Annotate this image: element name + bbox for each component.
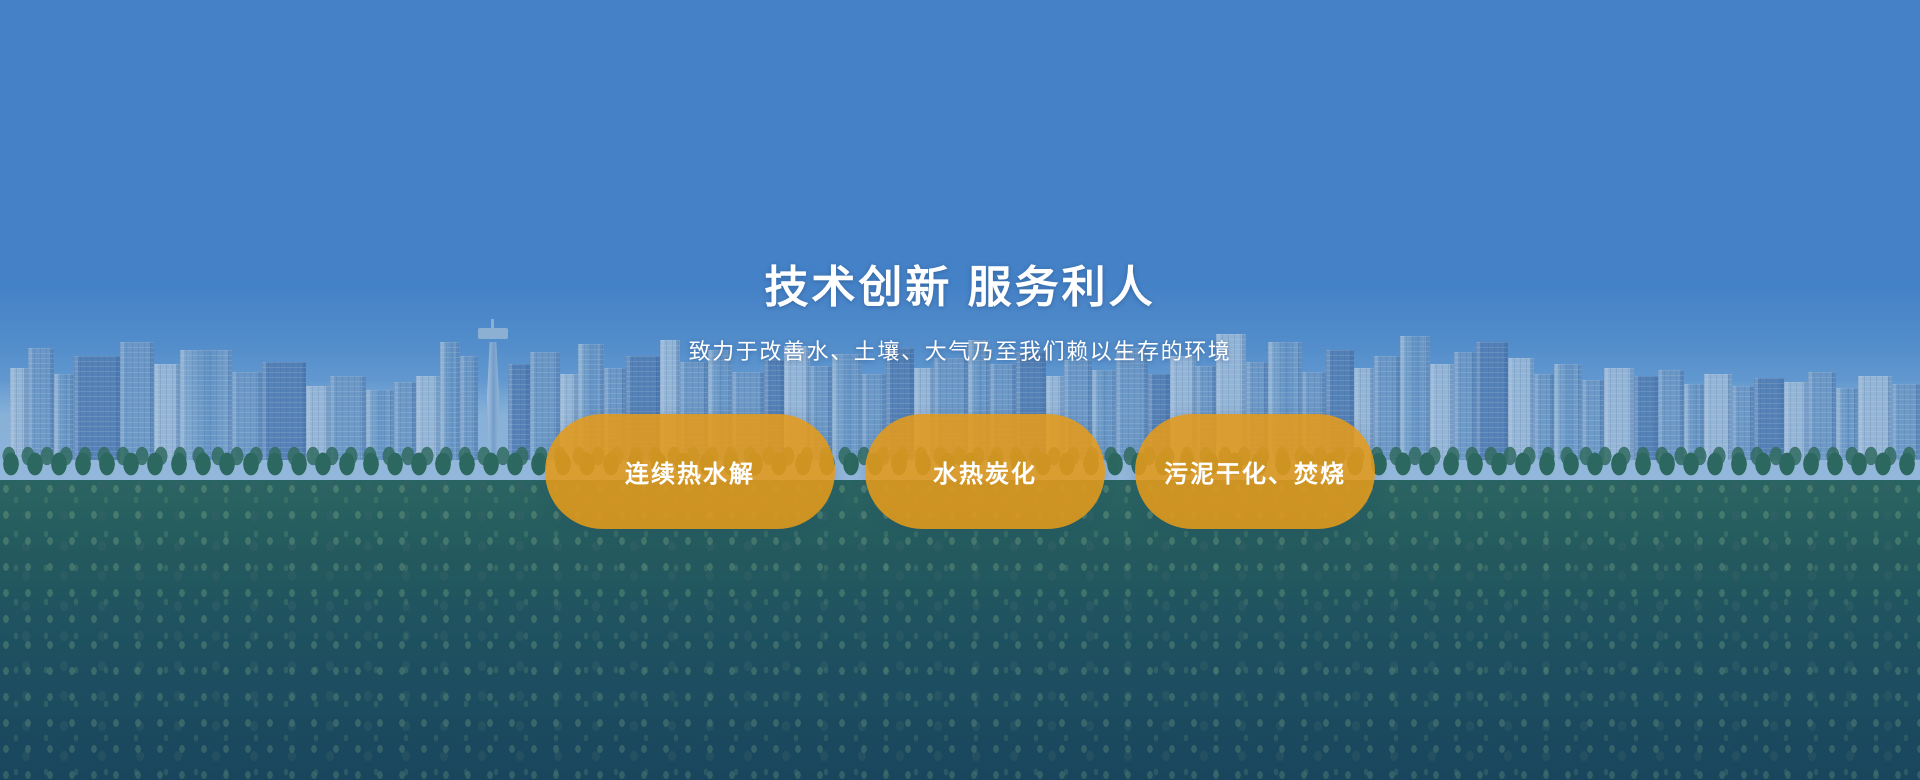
hero-subheadline: 致力于改善水、土壤、大气乃至我们赖以生存的环境 <box>689 334 1232 366</box>
service-button-sludge-drying-incineration[interactable]: 污泥干化、焚烧 <box>1135 414 1375 529</box>
hero-content: 技术创新 服务利人 致力于改善水、土壤、大气乃至我们赖以生存的环境 连续热水解 … <box>0 0 1920 780</box>
hero-banner: 技术创新 服务利人 致力于改善水、土壤、大气乃至我们赖以生存的环境 连续热水解 … <box>0 0 1920 780</box>
hero-headline: 技术创新 服务利人 <box>764 262 1155 314</box>
service-button-hydrothermal-carbonization[interactable]: 水热炭化 <box>865 414 1105 529</box>
service-button-group: 连续热水解 水热炭化 污泥干化、焚烧 <box>545 414 1375 529</box>
service-button-continuous-thermal-hydrolysis[interactable]: 连续热水解 <box>545 414 835 529</box>
